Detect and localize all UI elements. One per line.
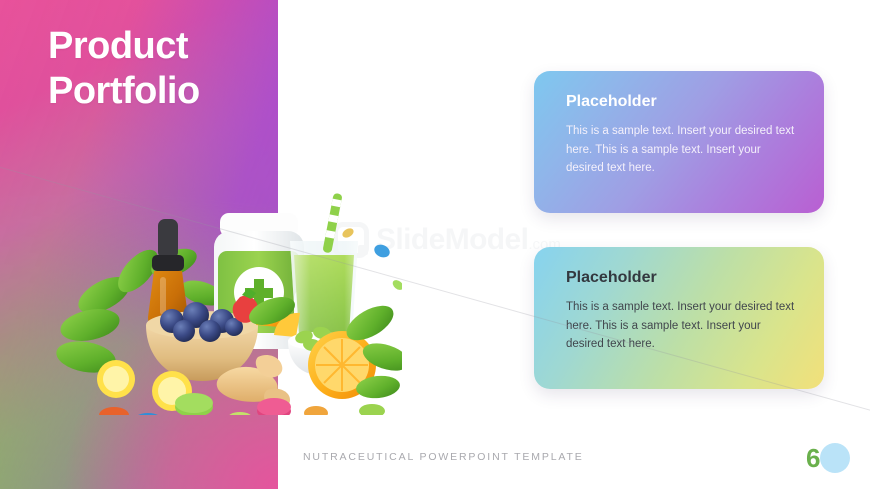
card-2-title: Placeholder	[566, 269, 800, 287]
watermark-text: SlideModel.com	[376, 223, 561, 257]
nutraceutical-illustration	[42, 175, 402, 415]
page-title-line1: Product	[48, 25, 188, 67]
page-circle-icon	[820, 443, 850, 473]
footer-label: NUTRACEUTICAL POWERPOINT TEMPLATE	[303, 451, 584, 463]
card-2-body: This is a sample text. Insert your desir…	[566, 298, 800, 354]
page-number-badge: 6	[806, 441, 848, 475]
page-title-line2: Portfolio	[48, 69, 278, 114]
slide-canvas: Product Portfolio SlideModel.com	[0, 0, 870, 489]
page-title: Product Portfolio	[48, 24, 278, 114]
card-1-body: This is a sample text. Insert your desir…	[566, 122, 800, 178]
page-number: 6	[806, 441, 820, 475]
card-1-title: Placeholder	[566, 93, 800, 111]
placeholder-card-2[interactable]: Placeholder This is a sample text. Inser…	[534, 247, 824, 389]
placeholder-card-1[interactable]: Placeholder This is a sample text. Inser…	[534, 71, 824, 213]
